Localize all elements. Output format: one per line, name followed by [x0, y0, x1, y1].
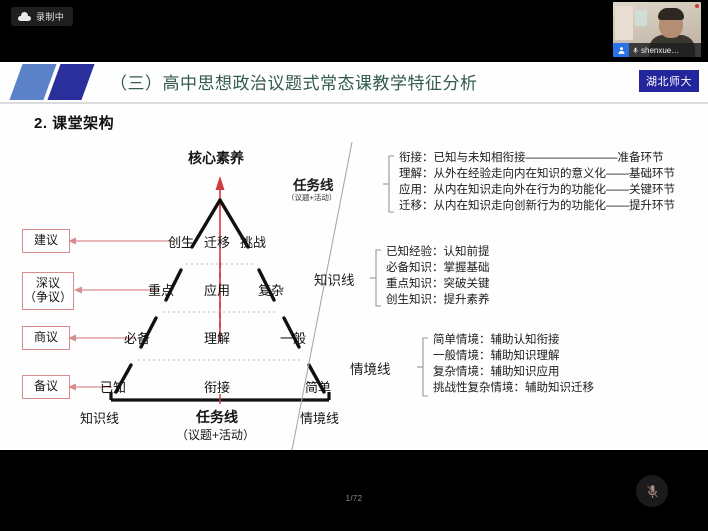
base-label-left: 知识线: [80, 408, 119, 427]
tier-3-right: 一般: [280, 328, 306, 347]
person-icon: [613, 43, 629, 57]
apex-label: 核心素养: [188, 148, 244, 168]
recording-dot-icon: [695, 4, 699, 8]
panel-knowledge-title: 知识线: [314, 269, 355, 289]
panel-knowledge-row: 创生知识：提升素养: [386, 292, 490, 308]
tier-4-left: 已知: [100, 377, 126, 396]
panel-knowledge-row: 必备知识：掌握基础: [386, 260, 490, 276]
video-thumbnail[interactable]: shenxue…: [613, 2, 701, 57]
slide-header: （三）高中思想政治议题式常态课教学特征分析 湖北师大: [0, 62, 708, 102]
panel-situation-row: 一般情境：辅助知识理解: [433, 348, 594, 364]
tier-2-right: 复杂: [258, 280, 284, 299]
panel-knowledge-rows: 已知经验：认知前提 必备知识：掌握基础 重点知识：突破关键 创生知识：提升素养: [386, 244, 490, 308]
side-box-shenyi[interactable]: 深议 （争议）: [22, 272, 74, 310]
side-box-shenyi-line2: （争议）: [24, 291, 72, 305]
participant-name: shenxue…: [641, 46, 679, 55]
recording-badge[interactable]: 录制中: [11, 7, 73, 26]
microphone-muted-glyph: [645, 483, 660, 500]
video-door-shape: [615, 6, 633, 40]
side-box-shangyi[interactable]: 商议: [22, 326, 70, 350]
tier-3-left: 必备: [124, 328, 150, 347]
base-label-center: 任务线: [196, 407, 238, 427]
video-person-hair: [658, 8, 684, 20]
video-window-shape: [635, 10, 647, 26]
microphone-muted-icon[interactable]: [636, 475, 668, 507]
tier-1-left: 创生: [168, 232, 194, 251]
base-label-right: 情境线: [300, 408, 339, 427]
section-heading: 2. 课堂架构: [34, 112, 114, 133]
panel-situation-row: 简单情境：辅助认知衔接: [433, 332, 594, 348]
side-box-beiyi[interactable]: 备议: [22, 375, 70, 399]
panel-task-rows: 衔接：已知与未知相衔接————————准备环节 理解：从外在经验走向内在知识的意…: [399, 150, 675, 214]
slide-title: （三）高中思想政治议题式常态课教学特征分析: [110, 69, 610, 94]
panel-task-row: 应用：从内在知识走向外在行为的功能化——关键环节: [399, 182, 675, 198]
slide-canvas: （三）高中思想政治议题式常态课教学特征分析 湖北师大 2. 课堂架构: [0, 62, 708, 450]
panel-task-subtitle: （议题+活动）: [287, 192, 336, 203]
panel-situation-title: 情境线: [350, 358, 391, 378]
tier-1-right: 挑战: [240, 232, 266, 251]
top-bar: 录制中 shenxue…: [0, 0, 708, 62]
microphone-icon: [629, 46, 641, 55]
bottom-bar: 1/72: [0, 450, 708, 531]
panel-task-row: 理解：从外在经验走向内在知识的意义化——基础环节: [399, 166, 675, 182]
header-divider: [0, 102, 708, 104]
tier-2-left: 重点: [148, 280, 174, 299]
tier-3-center: 理解: [204, 328, 230, 347]
tier-1-center: 迁移: [204, 232, 230, 251]
side-box-beiyi-line1: 备议: [34, 380, 58, 394]
classroom-structure-diagram: 核心素养 创生 迁移 挑战 重点 应用 复杂 必备 理解 一般 已知 衔接 简单…: [0, 142, 708, 450]
side-box-shenyi-line1: 深议: [36, 277, 60, 291]
panel-situation-rows: 简单情境：辅助认知衔接 一般情境：辅助知识理解 复杂情境：辅助知识应用 挑战性复…: [433, 332, 594, 396]
video-name-bar: shenxue…: [613, 43, 701, 57]
panel-task-row: 衔接：已知与未知相衔接————————准备环节: [399, 150, 675, 166]
tier-4-center: 衔接: [204, 377, 230, 396]
recording-label: 录制中: [36, 10, 64, 23]
panel-situation-row: 复杂情境：辅助知识应用: [433, 364, 594, 380]
cloud-icon: [18, 12, 31, 21]
side-box-jianyi[interactable]: 建议: [22, 229, 70, 253]
panel-knowledge-row: 已知经验：认知前提: [386, 244, 490, 260]
tier-2-center: 应用: [204, 280, 230, 299]
meeting-window: 录制中 shenxue… （三）高中思: [0, 0, 708, 531]
side-box-shangyi-line1: 商议: [34, 331, 58, 345]
page-indicator: 1/72: [0, 494, 708, 503]
panel-task-title: 任务线: [293, 174, 334, 194]
panel-knowledge-row: 重点知识：突破关键: [386, 276, 490, 292]
side-box-jianyi-line1: 建议: [34, 234, 58, 248]
panel-task-row: 迁移：从内在知识走向创新行为的功能化——提升环节: [399, 198, 675, 214]
organization-badge: 湖北师大: [639, 70, 699, 92]
base-label-center-sub: （议题+活动）: [176, 426, 255, 443]
tier-4-right: 简单: [305, 377, 331, 396]
panel-situation-row: 挑战性复杂情境：辅助知识迁移: [433, 380, 594, 396]
